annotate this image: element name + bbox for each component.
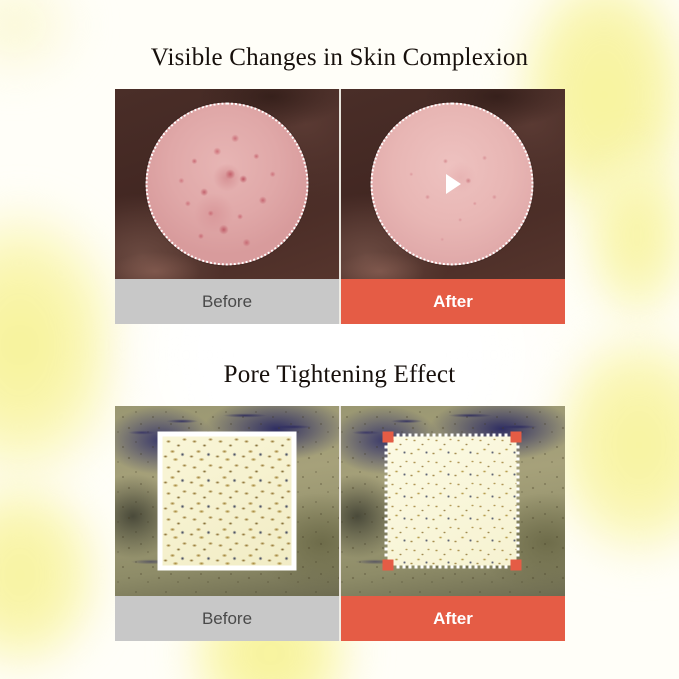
- pore-inset-after: [388, 437, 517, 566]
- before-photo-pores[interactable]: [115, 406, 339, 596]
- magnifier-circle-before: [146, 103, 309, 266]
- photo-divider: [339, 89, 341, 279]
- enlarged-pores-surface: [163, 437, 292, 566]
- corner-marker-bottom-left-icon: [383, 560, 394, 571]
- label-row-pores: Before After: [115, 596, 565, 641]
- label-after-pores: After: [341, 596, 565, 641]
- pore-inset-surface: [388, 437, 517, 566]
- photo-row-complexion: [115, 89, 565, 279]
- corner-marker-bottom-right-icon: [511, 560, 522, 571]
- section-title-complexion: Visible Changes in Skin Complexion: [0, 44, 679, 72]
- photo-divider: [339, 406, 341, 596]
- comparison-block-complexion: Before After: [115, 89, 565, 324]
- section-title-pores: Pore Tightening Effect: [0, 361, 679, 389]
- label-after-complexion: After: [341, 279, 565, 324]
- comparison-block-pores: Before After: [115, 406, 565, 641]
- play-triangle-icon: [446, 174, 461, 194]
- label-row-complexion: Before After: [115, 279, 565, 324]
- blemished-skin-surface: [146, 103, 309, 266]
- corner-marker-top-right-icon: [511, 432, 522, 443]
- pore-inset-before: [163, 437, 292, 566]
- pore-inset-surface: [163, 437, 292, 566]
- label-before-pores: Before: [115, 596, 339, 641]
- label-before-complexion: Before: [115, 279, 339, 324]
- corner-marker-top-left-icon: [383, 432, 394, 443]
- before-photo-complexion[interactable]: [115, 89, 339, 279]
- photo-row-pores: [115, 406, 565, 596]
- after-photo-pores[interactable]: [339, 406, 565, 596]
- tightened-pores-surface: [388, 437, 517, 566]
